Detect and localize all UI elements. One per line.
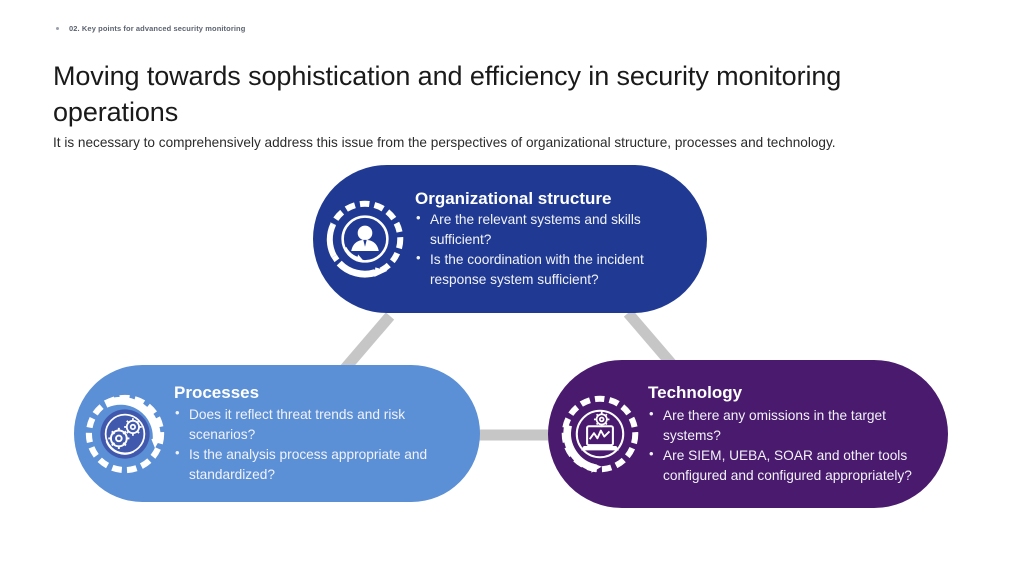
- cycle-diagram: Organizational structure Are the relevan…: [0, 150, 1024, 530]
- laptop-gear-in-cycle-icon: [552, 391, 648, 477]
- node-points: Are the relevant systems and skills suff…: [415, 210, 693, 290]
- node-point: Does it reflect threat trends and risk s…: [174, 405, 466, 445]
- breadcrumb: 02. Key points for advanced security mon…: [56, 24, 245, 33]
- node-organizational-structure[interactable]: Organizational structure Are the relevan…: [313, 165, 707, 313]
- node-technology[interactable]: Technology Are there any omissions in th…: [548, 360, 948, 508]
- node-points: Does it reflect threat trends and risk s…: [174, 405, 466, 485]
- gears-in-cycle-icon: [76, 390, 174, 478]
- node-point: Is the coordination with the incident re…: [415, 250, 693, 290]
- section-label: 02. Key points for advanced security mon…: [69, 24, 245, 33]
- connector-org-to-processes: [342, 316, 390, 372]
- node-title: Organizational structure: [415, 188, 693, 209]
- page-title: Moving towards sophistication and effici…: [53, 59, 883, 130]
- node-title: Technology: [648, 382, 934, 403]
- node-point: Are there any omissions in the target sy…: [648, 406, 934, 446]
- node-processes[interactable]: Processes Does it reflect threat trends …: [74, 365, 480, 502]
- node-title: Processes: [174, 382, 466, 403]
- node-point: Are the relevant systems and skills suff…: [415, 210, 693, 250]
- bullet-dot-icon: [56, 27, 59, 30]
- person-in-cycle-icon: [317, 196, 413, 282]
- node-point: Is the analysis process appropriate and …: [174, 445, 466, 485]
- node-points: Are there any omissions in the target sy…: [648, 406, 934, 486]
- node-point: Are SIEM, UEBA, SOAR and other tools con…: [648, 446, 934, 486]
